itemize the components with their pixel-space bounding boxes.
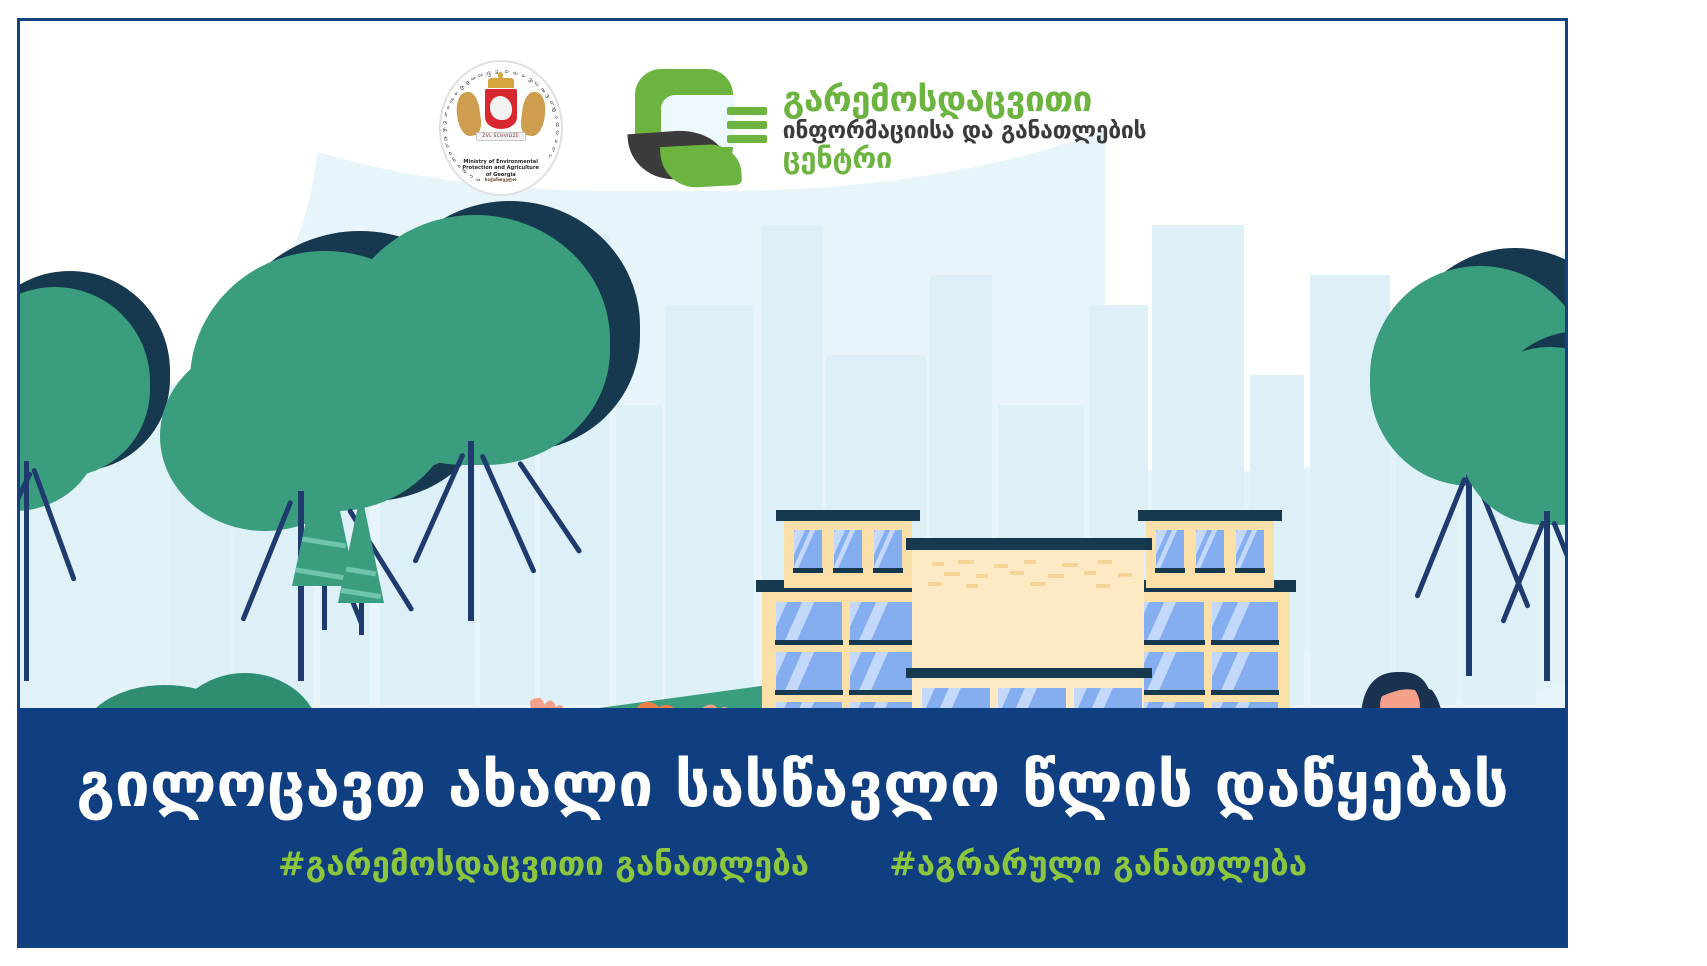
logo-line-2: ინფორმაციისა და განათლების — [783, 120, 1147, 143]
emblem-en-line2: Protection and Agriculture — [441, 165, 561, 172]
emblem-ka-line: საქართველო — [441, 178, 561, 185]
headline: გილოცავთ ახალი სასწავლო წლის დაწყებას — [76, 752, 1508, 817]
banner-root: ს ა ქ ა რ თ ვ ე ლ ო ს გ ა რ ე მ ო — [0, 0, 1707, 966]
center-logo: გარემოსდაცვითი ინფორმაციისა და განათლები… — [635, 69, 1147, 187]
hashtag-agrarian-education[interactable]: #აგრარული განათლება — [889, 844, 1307, 883]
banner-frame: ს ა ქ ა რ თ ვ ე ლ ო ს გ ა რ ე მ ო — [17, 18, 1568, 948]
logo-line-3: ცენტრი — [783, 144, 1147, 173]
message-band: გილოცავთ ახალი სასწავლო წლის დაწყებას #გ… — [20, 708, 1565, 945]
hashtag-environmental-education[interactable]: #გარემოსდაცვითი განათლება — [278, 844, 809, 883]
center-logo-mark-icon — [635, 69, 767, 187]
tree-mid-right — [320, 191, 660, 621]
emblem-saint-george-icon — [490, 96, 512, 120]
hashtag-row: #გარემოსდაცვითი განათლება #აგრარული განა… — [278, 844, 1307, 883]
tree-right-2 — [1460, 321, 1568, 681]
emblem-ribbon: ZVL SCHVIDZE — [476, 132, 526, 141]
emblem-motto: ZVL SCHVIDZE — [477, 133, 525, 140]
center-logo-text: გარემოსდაცვითი ინფორმაციისა და განათლები… — [783, 83, 1147, 173]
ministry-emblem: ს ა ქ ა რ თ ვ ე ლ ო ს გ ა რ ე მ ო — [439, 60, 563, 196]
tree-left-1 — [17, 261, 190, 681]
logo-line-1: გარემოსდაცვითი — [783, 83, 1147, 118]
logo-row: ს ა ქ ა რ თ ვ ე ლ ო ს გ ა რ ე მ ო — [20, 43, 1565, 213]
emblem-en-line1: Ministry of Environmental — [441, 159, 561, 166]
emblem-english-text: Ministry of Environmental Protection and… — [441, 159, 561, 185]
